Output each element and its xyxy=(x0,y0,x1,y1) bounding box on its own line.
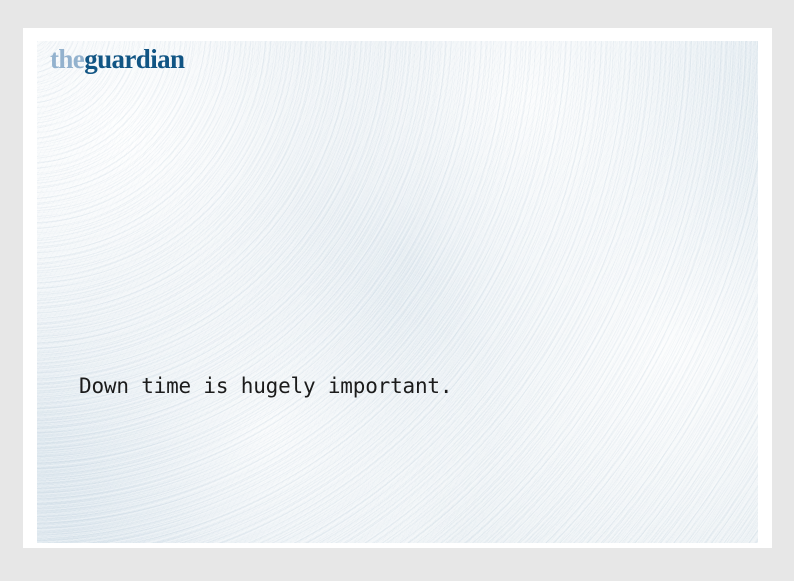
quote-text: Down time is hugely important. xyxy=(79,371,452,401)
quote-card-frame: theguardian Down time is hugely importan… xyxy=(23,28,772,548)
masthead-name: guardian xyxy=(84,44,184,74)
paper-grain-layer xyxy=(37,41,758,543)
guardian-masthead-logo[interactable]: theguardian xyxy=(50,46,184,73)
paper-texture-layer xyxy=(37,41,758,543)
masthead-prefix: the xyxy=(50,44,84,74)
quote-card-paper: theguardian Down time is hugely importan… xyxy=(37,41,758,543)
